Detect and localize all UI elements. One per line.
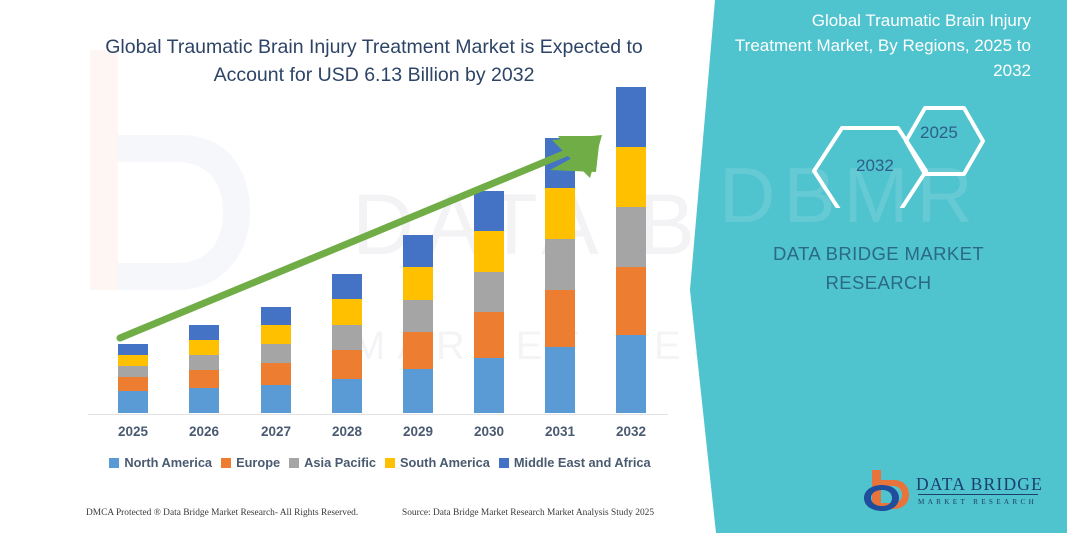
legend-item-north-america[interactable]: North America (109, 455, 212, 470)
x-axis-label-2031: 2031 (530, 424, 590, 439)
legend-swatch-icon (385, 458, 395, 468)
panel-title: Global Traumatic Brain Injury Treatment … (731, 8, 1031, 83)
chart-legend: North AmericaEuropeAsia PacificSouth Ame… (88, 455, 672, 470)
bar-segment-2028-middle-east-and-africa (332, 274, 362, 299)
bar-segment-2028-south-america (332, 299, 362, 325)
bar-segment-2026-north-america (189, 388, 219, 413)
dbmr-logo-name: DATA BRIDGE (916, 474, 1043, 495)
bar-2025 (118, 344, 148, 413)
bar-segment-2031-europe (545, 290, 575, 347)
bar-segment-2025-middle-east-and-africa (118, 344, 148, 355)
hexagon-shapes (690, 98, 1067, 208)
bar-segment-2032-middle-east-and-africa (616, 87, 646, 147)
legend-label: Middle East and Africa (514, 455, 651, 470)
bar-segment-2031-asia-pacific (545, 239, 575, 290)
bar-segment-2032-north-america (616, 335, 646, 413)
bar-segment-2030-south-america (474, 231, 504, 272)
dbmr-logo-mark (862, 468, 914, 514)
bar-segment-2028-europe (332, 350, 362, 379)
bar-segment-2025-north-america (118, 391, 148, 413)
hexagon-group: 2032 2025 (690, 98, 1067, 208)
bar-segment-2030-north-america (474, 358, 504, 413)
legend-label: North America (124, 455, 212, 470)
bar-2031 (545, 138, 575, 413)
bar-segment-2030-asia-pacific (474, 272, 504, 312)
dbmr-logo-rule (918, 494, 1038, 495)
x-axis-label-2030: 2030 (459, 424, 519, 439)
bar-segment-2031-middle-east-and-africa (545, 138, 575, 188)
bar-2026 (189, 325, 219, 413)
legend-label: South America (400, 455, 490, 470)
chart-title: Global Traumatic Brain Injury Treatment … (74, 34, 674, 89)
panel-brand-name: DATA BRIDGE MARKET RESEARCH (690, 240, 1067, 297)
bar-segment-2025-south-america (118, 355, 148, 366)
footer-source: Source: Data Bridge Market Research Mark… (402, 508, 654, 518)
bar-segment-2031-south-america (545, 188, 575, 239)
legend-swatch-icon (499, 458, 509, 468)
bar-2029 (403, 235, 433, 413)
x-axis-label-2032: 2032 (601, 424, 661, 439)
bar-segment-2029-europe (403, 332, 433, 369)
bar-chart-plot-area (88, 110, 680, 415)
bar-segment-2026-south-america (189, 340, 219, 355)
bar-segment-2026-middle-east-and-africa (189, 325, 219, 340)
bar-segment-2025-europe (118, 377, 148, 391)
bar-segment-2027-asia-pacific (261, 344, 291, 363)
bar-segment-2032-asia-pacific (616, 207, 646, 267)
bar-segment-2028-asia-pacific (332, 325, 362, 350)
footer-copyright: DMCA Protected ® Data Bridge Market Rese… (86, 508, 358, 518)
bar-2027 (261, 307, 291, 413)
bar-segment-2028-north-america (332, 379, 362, 413)
dbmr-logo-tagline: MARKET RESEARCH (918, 498, 1037, 506)
bar-segment-2026-asia-pacific (189, 355, 219, 370)
infographic-canvas: DATA BRIDGE MARKET RESEARCH Global Traum… (0, 0, 1067, 533)
bar-segment-2026-europe (189, 370, 219, 388)
bar-segment-2029-middle-east-and-africa (403, 235, 433, 267)
bar-segment-2032-europe (616, 267, 646, 335)
bar-segment-2027-middle-east-and-africa (261, 307, 291, 325)
x-axis-label-2029: 2029 (388, 424, 448, 439)
bar-2028 (332, 274, 362, 413)
x-axis-label-2025: 2025 (103, 424, 163, 439)
bar-segment-2025-asia-pacific (118, 366, 148, 377)
bar-segment-2030-middle-east-and-africa (474, 191, 504, 231)
bar-segment-2030-europe (474, 312, 504, 358)
bar-segment-2027-north-america (261, 385, 291, 413)
dbmr-logo: DATA BRIDGE MARKET RESEARCH (862, 468, 1047, 520)
panel-brand-line2: RESEARCH (690, 269, 1067, 298)
legend-swatch-icon (221, 458, 231, 468)
bar-2032 (616, 87, 646, 413)
bar-segment-2027-south-america (261, 325, 291, 344)
panel-content: DBMR Global Traumatic Brain Injury Treat… (690, 0, 1067, 533)
hexagon-2032-label: 2032 (856, 156, 894, 176)
bar-segment-2031-north-america (545, 347, 575, 413)
bar-segment-2027-europe (261, 363, 291, 385)
bar-segment-2029-south-america (403, 267, 433, 300)
legend-item-europe[interactable]: Europe (221, 455, 280, 470)
bar-segment-2029-asia-pacific (403, 300, 433, 332)
bar-segment-2029-north-america (403, 369, 433, 413)
legend-swatch-icon (289, 458, 299, 468)
bar-segment-2032-south-america (616, 147, 646, 207)
x-axis-label-2026: 2026 (174, 424, 234, 439)
x-axis-label-2028: 2028 (317, 424, 377, 439)
x-axis-label-2027: 2027 (246, 424, 306, 439)
legend-item-middle-east-and-africa[interactable]: Middle East and Africa (499, 455, 651, 470)
legend-item-asia-pacific[interactable]: Asia Pacific (289, 455, 376, 470)
legend-label: Asia Pacific (304, 455, 376, 470)
hexagon-2025-label: 2025 (920, 123, 958, 143)
panel-brand-line1: DATA BRIDGE MARKET (690, 240, 1067, 269)
bar-2030 (474, 191, 504, 413)
legend-swatch-icon (109, 458, 119, 468)
legend-item-south-america[interactable]: South America (385, 455, 490, 470)
legend-label: Europe (236, 455, 280, 470)
